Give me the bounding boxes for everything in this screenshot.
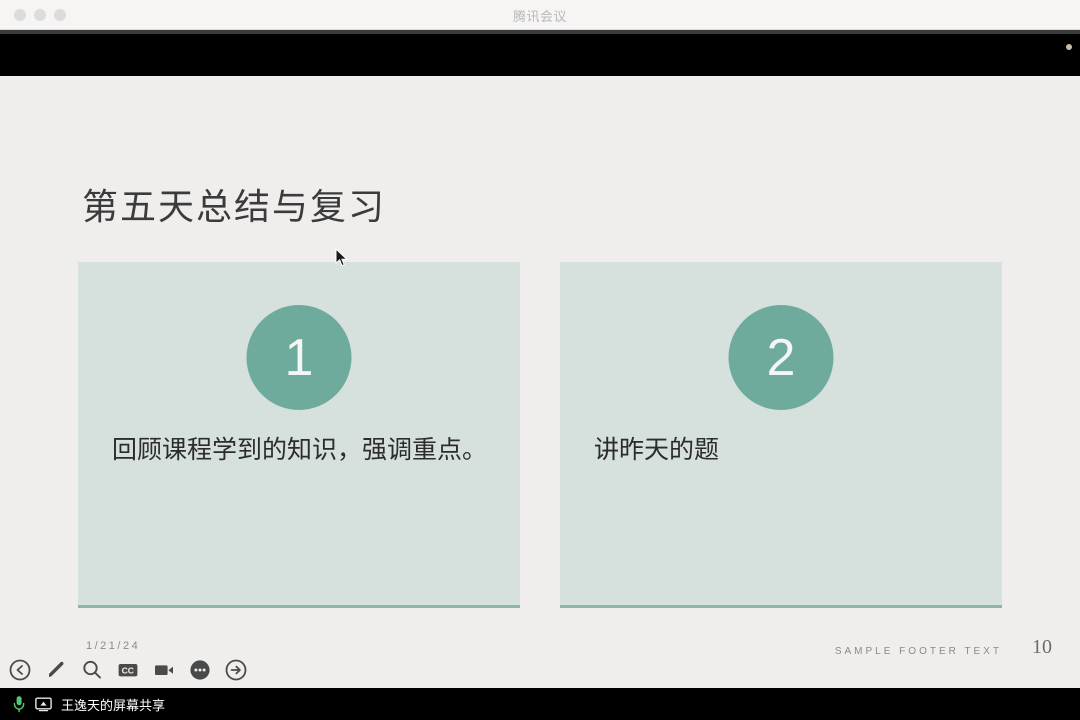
- video-icon[interactable]: [152, 658, 176, 682]
- card-number-badge: 2: [729, 305, 834, 410]
- next-slide-icon[interactable]: [224, 658, 248, 682]
- slide-title: 第五天总结与复习: [82, 178, 386, 230]
- card-number-badge: 1: [247, 305, 352, 410]
- pen-icon[interactable]: [44, 658, 68, 682]
- window-titlebar: 腾讯会议: [0, 0, 1080, 30]
- microphone-icon[interactable]: [12, 695, 26, 713]
- screen-share-icon[interactable]: [35, 697, 52, 712]
- top-black-bar: [0, 34, 1080, 76]
- shared-slide-surface: 第五天总结与复习 1 回顾课程学到的知识，强调重点。 2 讲昨天的题 1/21/…: [0, 76, 1080, 688]
- previous-slide-icon[interactable]: [8, 658, 32, 682]
- zoom-search-icon[interactable]: [80, 658, 104, 682]
- app-root: 腾讯会议 第五天总结与复习 1 回顾课程学到的知识，强调重点。 2 讲昨天的题 …: [0, 0, 1080, 720]
- more-options-icon[interactable]: [188, 658, 212, 682]
- screen-share-statusbar: 王逸天的屏幕共享: [0, 688, 1080, 720]
- closed-caption-icon[interactable]: CC: [116, 658, 140, 682]
- svg-text:CC: CC: [122, 665, 134, 675]
- slide-card-1: 1 回顾课程学到的知识，强调重点。: [78, 262, 520, 608]
- slide-card-2: 2 讲昨天的题: [560, 262, 1002, 608]
- slide-footer-text: SAMPLE FOOTER TEXT: [835, 646, 1002, 657]
- presenter-toolbar: CC: [8, 658, 248, 682]
- window-title: 腾讯会议: [0, 0, 1080, 30]
- screen-share-label: 王逸天的屏幕共享: [61, 695, 165, 714]
- slide-page-number: 10: [1032, 636, 1052, 659]
- recording-indicator-icon: [1066, 44, 1072, 50]
- card-body-text: 讲昨天的题: [594, 430, 972, 471]
- card-body-text: 回顾课程学到的知识，强调重点。: [112, 430, 490, 471]
- slide-date: 1/21/24: [86, 640, 140, 652]
